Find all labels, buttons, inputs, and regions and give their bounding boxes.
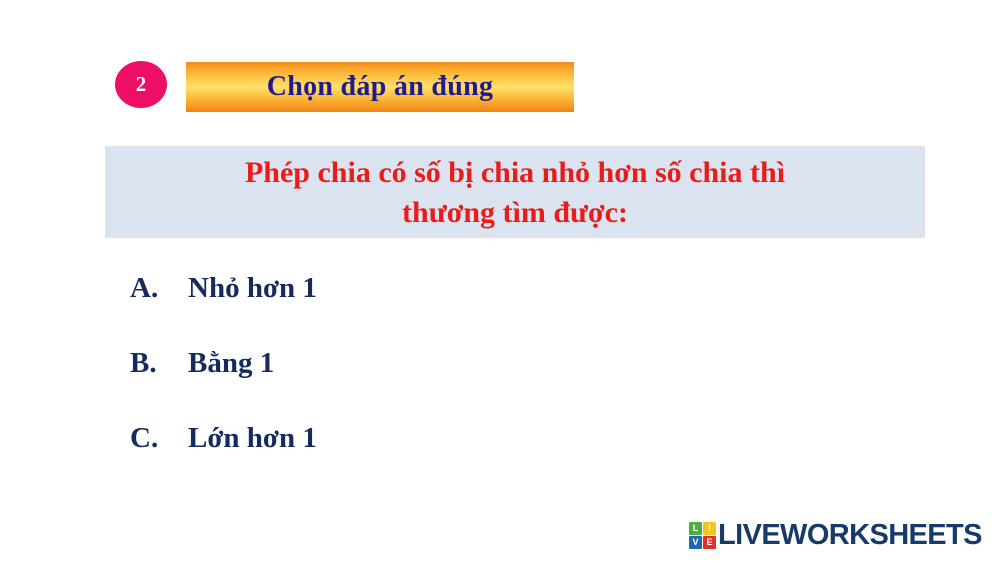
answer-options-list: A. Nhỏ hơn 1 B. Bằng 1 C. Lớn hơn 1 <box>130 272 630 497</box>
liveworksheets-wordmark: LIVEWORKSHEETS <box>718 521 982 550</box>
option-text-b: Bằng 1 <box>188 347 274 380</box>
question-number-label: 2 <box>136 74 147 95</box>
liveworksheets-logo[interactable]: L I V E LIVEWORKSHEETS <box>689 518 982 552</box>
answer-option-c[interactable]: C. Lớn hơn 1 <box>130 422 630 497</box>
answer-option-b[interactable]: B. Bằng 1 <box>130 347 630 422</box>
option-letter-c: C. <box>130 422 188 455</box>
option-text-a: Nhỏ hơn 1 <box>188 272 317 305</box>
question-text-line-1: Phép chia có số bị chia nhỏ hơn số chia … <box>245 153 785 193</box>
logo-tile-e: E <box>703 536 716 549</box>
question-number-badge: 2 <box>115 61 167 108</box>
logo-tile-l: L <box>689 522 702 535</box>
logo-tile-v: V <box>689 536 702 549</box>
option-text-c: Lớn hơn 1 <box>188 422 317 455</box>
question-text-line-2: thương tìm được: <box>402 193 628 233</box>
option-letter-a: A. <box>130 272 188 305</box>
question-prompt-box: Phép chia có số bị chia nhỏ hơn số chia … <box>105 146 925 238</box>
header-row: 2 Chọn đáp án đúng <box>0 0 1000 130</box>
title-banner: Chọn đáp án đúng <box>186 62 574 112</box>
answer-option-a[interactable]: A. Nhỏ hơn 1 <box>130 272 630 347</box>
option-letter-b: B. <box>130 347 188 380</box>
title-banner-label: Chọn đáp án đúng <box>267 71 494 103</box>
liveworksheets-logo-icon: L I V E <box>689 522 716 549</box>
logo-tile-i: I <box>703 522 716 535</box>
